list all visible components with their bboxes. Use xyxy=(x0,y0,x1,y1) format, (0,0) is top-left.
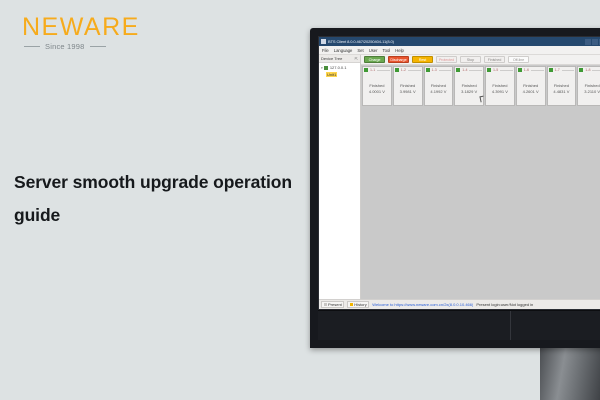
channel-cell-body: Finished3.2110 V xyxy=(579,72,600,104)
present-icon xyxy=(324,303,327,306)
device-tree-header: Device Tree ⇱ xyxy=(319,55,360,63)
window-title: BTS Client 8.0.0.467/20250404-11(8.0) xyxy=(328,39,394,44)
channel-grid-area[interactable]: 1-1Finished4.0001 V1-2Finished3.9981 V1-… xyxy=(361,65,600,299)
channel-status-text: Finished xyxy=(431,83,446,88)
tagline-rule-right xyxy=(90,46,106,47)
channel-divider xyxy=(562,70,575,71)
channel-cell[interactable]: 1-3Finished4.1992 V xyxy=(424,66,454,106)
channel-voltage: 3.9981 V xyxy=(400,89,416,94)
filter-button-stop[interactable]: Stop xyxy=(460,56,481,63)
channel-divider xyxy=(439,70,452,71)
channel-voltage: 4.1992 V xyxy=(430,89,446,94)
brand-logo: NEWARE Since 1998 xyxy=(22,14,132,54)
brand-tagline-row: Since 1998 xyxy=(22,42,132,51)
history-icon xyxy=(350,303,353,306)
channel-cell-body: Finished4.2601 V xyxy=(518,72,544,104)
channel-voltage: 4.2601 V xyxy=(523,89,539,94)
filter-button-finished[interactable]: Finished xyxy=(484,56,505,63)
channel-voltage: 4.0001 V xyxy=(369,89,385,94)
device-tree-body[interactable]: ▾ 127.0.0.1 Unit1 xyxy=(319,63,360,299)
filter-button-off-line[interactable]: Off-line xyxy=(508,56,529,63)
channel-cell[interactable]: 1-2Finished3.9981 V xyxy=(393,66,423,106)
channel-cell-body: Finished4.3991 V xyxy=(487,72,513,104)
menu-item-file[interactable]: File xyxy=(322,48,329,53)
channel-voltage: 4.3991 V xyxy=(492,89,508,94)
window-titlebar: BTS Client 8.0.0.467/20250404-11(8.0) xyxy=(319,37,600,46)
tree-node-unit[interactable]: Unit1 xyxy=(321,72,358,77)
channel-status-text: Finished xyxy=(400,83,415,88)
brand-wordmark: NEWARE xyxy=(22,14,132,41)
channel-divider xyxy=(592,70,600,71)
filter-button-rest[interactable]: Rest xyxy=(412,56,433,63)
login-status: Present login:user/Not logged in xyxy=(476,302,533,307)
channel-voltage: 3.1829 V xyxy=(461,89,477,94)
status-tab-present-label: Present xyxy=(328,302,342,307)
channel-cell-body: Finished4.1992 V xyxy=(426,72,452,104)
minimize-button[interactable] xyxy=(585,39,591,45)
channel-divider xyxy=(408,70,421,71)
monitor-stand xyxy=(540,345,600,400)
channel-voltage: 3.2110 V xyxy=(584,89,600,94)
tree-node-root[interactable]: ▾ 127.0.0.1 xyxy=(321,65,358,70)
filter-button-discharge[interactable]: Discharge xyxy=(388,56,409,63)
device-tree-panel: Device Tree ⇱ ▾ 127.0.0.1 Unit1 xyxy=(319,55,361,299)
channel-status-text: Finished xyxy=(585,83,600,88)
desk-surface xyxy=(0,345,545,400)
status-tab-history-label: History xyxy=(354,302,366,307)
menu-item-language[interactable]: Language xyxy=(334,48,353,53)
menu-bar[interactable]: FileLanguageSetUserToolHelp xyxy=(319,46,600,55)
channel-cell[interactable]: 1-5Finished4.3991 V xyxy=(485,66,515,106)
channel-divider xyxy=(500,70,513,71)
tagline-rule-left xyxy=(24,46,40,47)
status-tab-history[interactable]: History xyxy=(347,301,369,308)
page-title: Server smooth upgrade operation guide xyxy=(14,166,294,232)
channel-cell[interactable]: 1-8Finished3.2110 V xyxy=(577,66,600,106)
channel-voltage: 4.4831 V xyxy=(553,89,569,94)
channel-cell-body: Finished4.4831 V xyxy=(549,72,575,104)
channel-status-text: Finished xyxy=(462,83,477,88)
filter-button-charge[interactable]: Charge xyxy=(364,56,385,63)
device-icon xyxy=(324,66,328,70)
channel-status-text: Finished xyxy=(554,83,569,88)
menu-item-tool[interactable]: Tool xyxy=(383,48,391,53)
channel-divider xyxy=(531,70,544,71)
welcome-link[interactable]: Welcome to https://www.neware.com.cn/2x(… xyxy=(372,302,473,307)
menu-item-help[interactable]: Help xyxy=(395,48,404,53)
window-controls[interactable] xyxy=(585,39,600,45)
channel-pane: ChargeDischargeRestProtectedStopFinished… xyxy=(361,55,600,299)
monitor-bezel-bottom xyxy=(318,310,600,340)
app-icon xyxy=(321,39,326,44)
bezel-seam xyxy=(510,311,511,340)
channel-divider xyxy=(377,70,390,71)
status-filter-toolbar[interactable]: ChargeDischargeRestProtectedStopFinished… xyxy=(361,55,600,65)
filter-button-protected[interactable]: Protected xyxy=(436,56,457,63)
channel-cell[interactable]: 1-6Finished4.2601 V xyxy=(516,66,546,106)
maximize-button[interactable] xyxy=(592,39,598,45)
channel-cell-body: Finished4.0001 V xyxy=(364,72,390,104)
channel-status-text: Finished xyxy=(523,83,538,88)
channel-cell[interactable]: 1-1Finished4.0001 V xyxy=(362,66,392,106)
menu-item-user[interactable]: User xyxy=(369,48,378,53)
monitor-screen: BTS Client 8.0.0.467/20250404-11(8.0) Fi… xyxy=(319,37,600,309)
status-tab-present[interactable]: Present xyxy=(321,301,344,308)
pin-icon[interactable]: ⇱ xyxy=(355,56,358,61)
channel-divider xyxy=(469,70,482,71)
channel-cell[interactable]: 1-7Finished4.4831 V xyxy=(547,66,577,106)
channel-status-text: Finished xyxy=(492,83,507,88)
monitor: BTS Client 8.0.0.467/20250404-11(8.0) Fi… xyxy=(310,28,600,348)
menu-item-set[interactable]: Set xyxy=(357,48,363,53)
app-body: Device Tree ⇱ ▾ 127.0.0.1 Unit1 ChargeDi xyxy=(319,55,600,299)
brand-tagline: Since 1998 xyxy=(45,42,85,51)
channel-cell-body: Finished3.1829 V xyxy=(456,72,482,104)
device-tree-title: Device Tree xyxy=(321,56,342,61)
chevron-down-icon[interactable]: ▾ xyxy=(321,66,323,70)
tree-node-root-label: 127.0.0.1 xyxy=(330,65,347,70)
tree-node-unit-label: Unit1 xyxy=(326,72,337,77)
channel-status-text: Finished xyxy=(369,83,384,88)
status-bar: Present History Welcome to https://www.n… xyxy=(319,299,600,309)
channel-cell-body: Finished3.9981 V xyxy=(395,72,421,104)
